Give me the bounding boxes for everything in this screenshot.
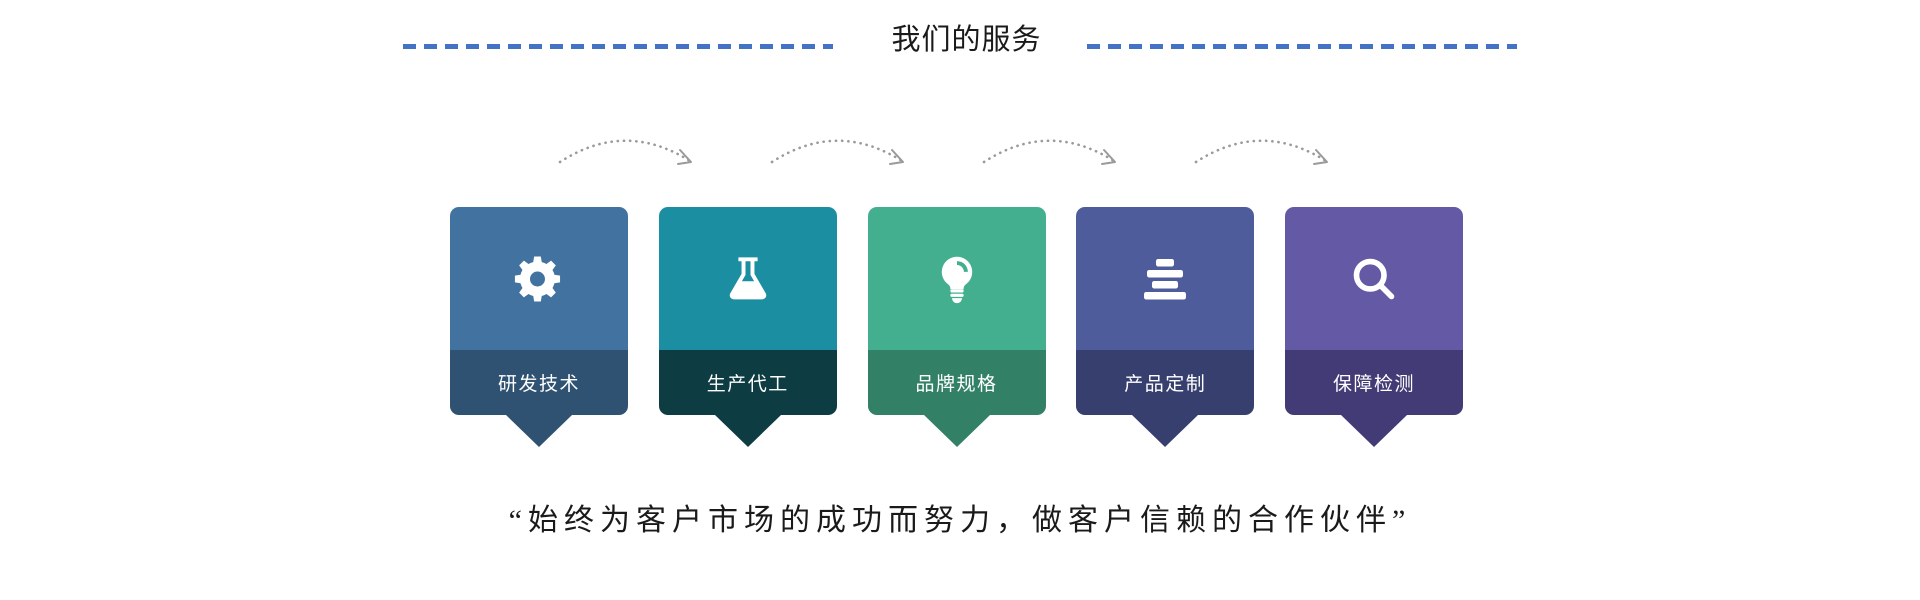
arrowhead-2 <box>890 150 903 164</box>
card-icon-area <box>868 207 1046 350</box>
tagline-quote: “始终为客户市场的成功而努力，做客户信赖的合作伙伴” <box>0 495 1920 539</box>
arrowhead-4 <box>1314 150 1327 164</box>
service-card-rd[interactable]: 研发技术 <box>450 207 628 415</box>
flask-icon <box>718 249 778 309</box>
service-card-label: 产品定制 <box>1124 369 1206 396</box>
service-card-custom[interactable]: 产品定制 <box>1076 207 1254 415</box>
card-pointer <box>506 415 572 447</box>
page-title: 我们的服务 <box>891 26 1041 55</box>
page-header: 我们的服务 <box>0 0 1920 80</box>
arrowhead-1 <box>678 150 691 164</box>
card-icon-area <box>659 207 837 350</box>
card-pointer <box>924 415 990 447</box>
service-card-label: 品牌规格 <box>915 369 997 396</box>
service-card-label: 研发技术 <box>498 369 580 396</box>
card-label-area: 产品定制 <box>1076 350 1254 415</box>
center-align-icon <box>1135 249 1195 309</box>
right-dashed-rule <box>1087 44 1517 49</box>
service-card-inspection[interactable]: 保障检测 <box>1285 207 1463 415</box>
card-label-area: 生产代工 <box>659 350 837 415</box>
card-icon-area <box>450 207 628 350</box>
service-card-row: 研发技术 生产代工 <box>450 207 1463 452</box>
service-card-label: 保障检测 <box>1333 369 1415 396</box>
connector-arrow-4 <box>1196 141 1326 162</box>
card-label-area: 保障检测 <box>1285 350 1463 415</box>
connector-arrow-3 <box>984 141 1114 162</box>
card-pointer <box>715 415 781 447</box>
service-card-brand[interactable]: 品牌规格 <box>868 207 1046 415</box>
card-label-area: 品牌规格 <box>868 350 1046 415</box>
connector-arrow-2 <box>772 141 902 162</box>
left-dashed-rule <box>403 44 833 49</box>
service-card-label: 生产代工 <box>707 369 789 396</box>
card-pointer <box>1341 415 1407 447</box>
gear-icon <box>509 249 569 309</box>
service-card-oem[interactable]: 生产代工 <box>659 207 837 415</box>
search-icon <box>1344 249 1404 309</box>
card-pointer <box>1132 415 1198 447</box>
connector-arrow-1 <box>560 141 690 162</box>
arrowhead-3 <box>1102 150 1115 164</box>
card-label-area: 研发技术 <box>450 350 628 415</box>
card-icon-area <box>1076 207 1254 350</box>
lightbulb-icon <box>927 249 987 309</box>
card-icon-area <box>1285 207 1463 350</box>
